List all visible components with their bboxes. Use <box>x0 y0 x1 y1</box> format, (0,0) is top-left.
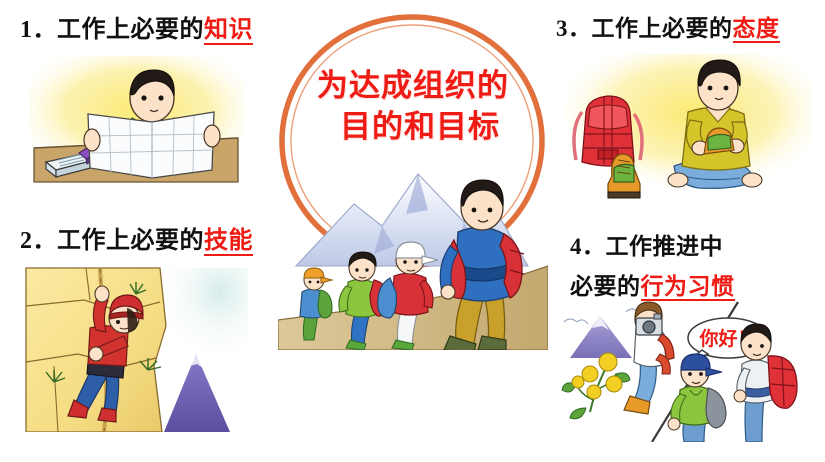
illustration-team-climbing <box>278 170 548 350</box>
item-3-highlight: 态度 <box>733 15 780 43</box>
item-1-highlight: 知识 <box>204 16 253 45</box>
item-3-heading: 3．工作上必要的态度 <box>556 14 780 44</box>
illustration-habits-scene: 你好！ <box>556 300 820 442</box>
item-3-number: 3． <box>556 16 592 41</box>
item-4-highlight: 行为习惯 <box>641 273 735 301</box>
center-title-line-2: 目的和目标 <box>290 107 536 148</box>
item-1-text: 工作上必要的 <box>57 16 204 43</box>
item-2-text: 工作上必要的 <box>57 227 204 254</box>
illustration-rock-climbing <box>24 266 250 432</box>
item-4-line-1: 4．工作推进中 <box>570 233 723 259</box>
item-1-number: 1． <box>20 17 57 43</box>
center-title-line-1: 为达成组织的 <box>317 68 509 103</box>
item-2-highlight: 技能 <box>204 227 253 256</box>
habits-scene-svg: 你好！ <box>556 300 820 442</box>
illustration-reading-map <box>24 52 250 202</box>
center-title: 为达成组织的 目的和目标 <box>290 66 536 148</box>
item-4-text-line2: 必要的 <box>570 273 641 299</box>
item-4-line-2: 必要的行为习惯 <box>570 272 735 302</box>
item-1-heading: 1．工作上必要的知识 <box>20 14 253 46</box>
slide-canvas: 1．工作上必要的知识 2．工作上必要的技能 3．工作上必要的态度 4．工作推进中… <box>0 0 825 462</box>
item-4-heading: 4．工作推进中 必要的行为习惯 <box>570 232 735 302</box>
gear-maintenance-svg <box>556 50 818 216</box>
illustration-gear-maintenance <box>556 50 818 216</box>
item-4-number: 4． <box>570 234 606 259</box>
item-4-text-line1: 工作推进中 <box>606 233 724 259</box>
rock-climbing-svg <box>24 266 250 432</box>
item-3-text: 工作上必要的 <box>592 15 733 41</box>
item-2-heading: 2．工作上必要的技能 <box>20 225 253 257</box>
reading-map-svg <box>24 52 250 202</box>
item-2-number: 2． <box>20 228 57 254</box>
team-climbing-svg <box>278 170 548 350</box>
